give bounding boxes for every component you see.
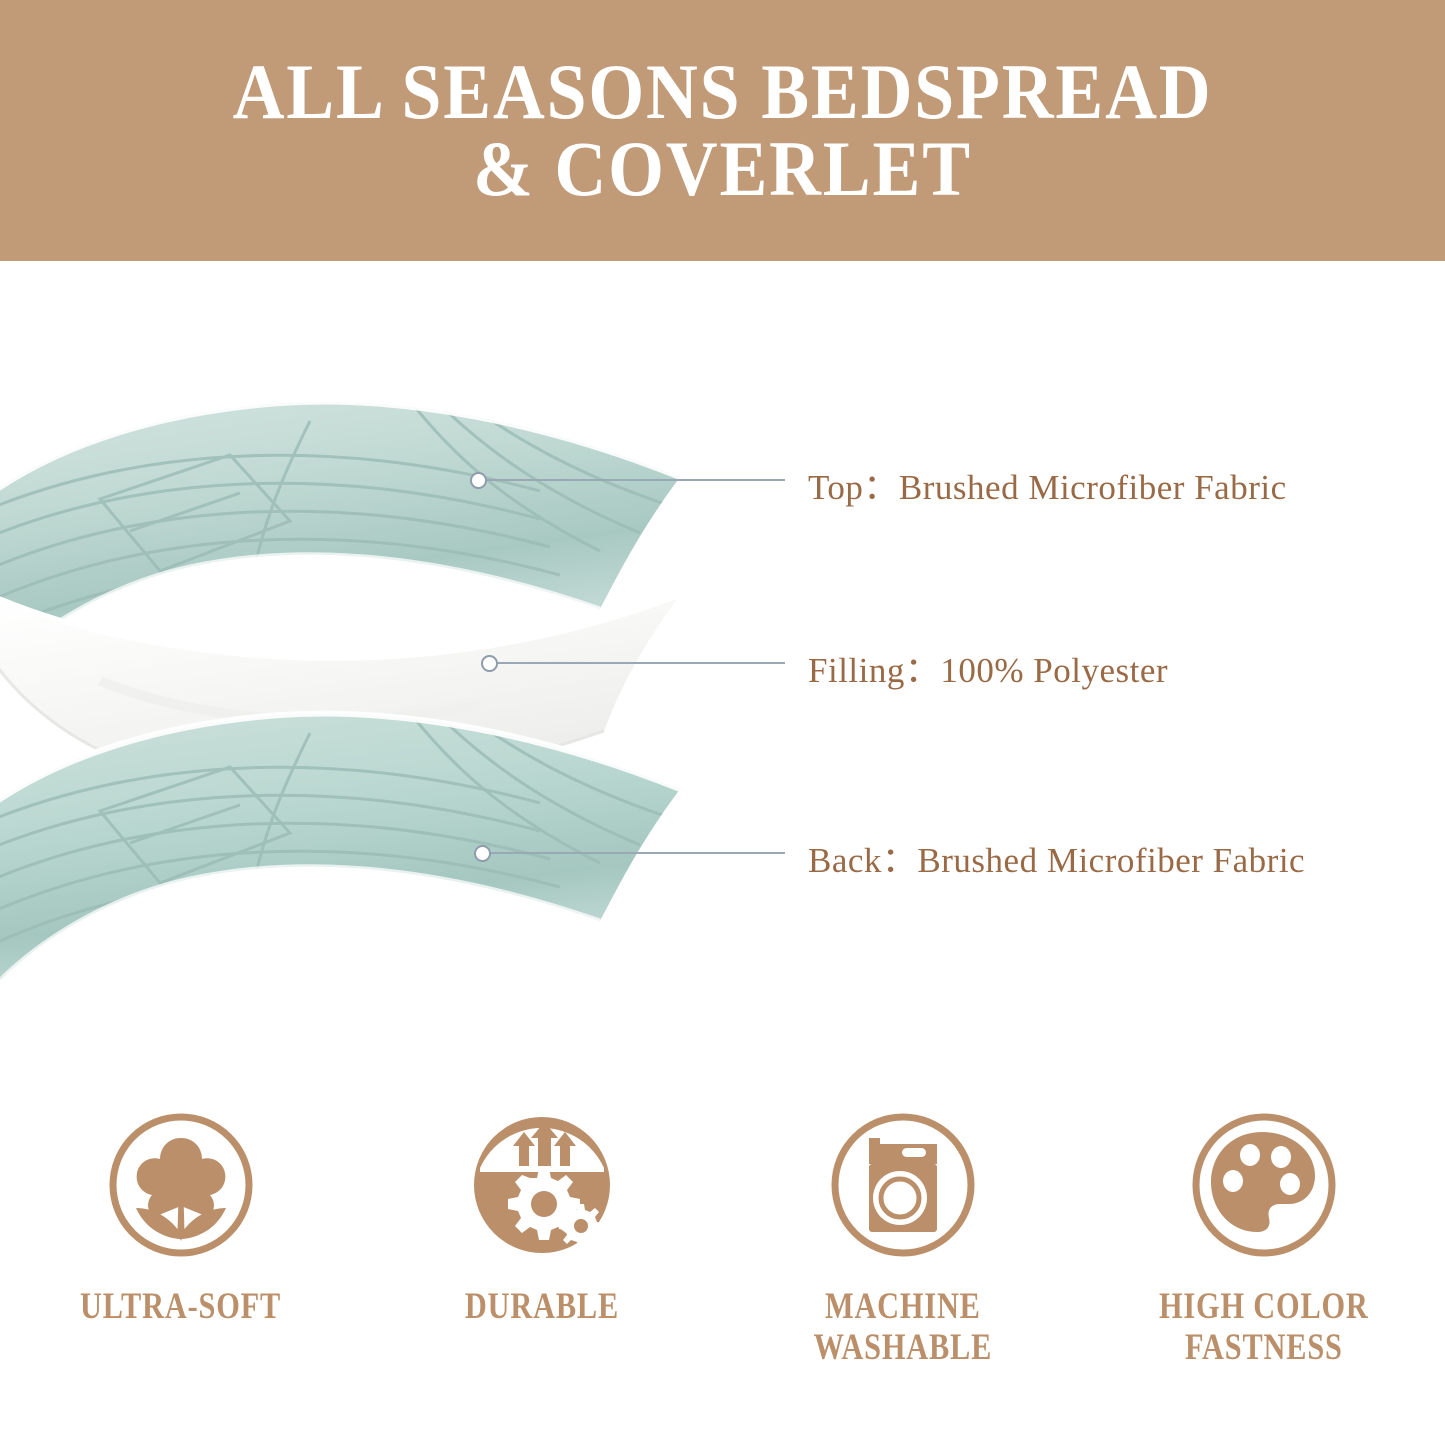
leader-dot-filling (481, 655, 498, 672)
leader-line-filling (498, 662, 785, 664)
paint-palette-icon (1189, 1110, 1339, 1260)
header-banner: ALL SEASONS BEDSPREAD & COVERLET (0, 0, 1445, 261)
leader-line-top (487, 479, 785, 481)
leader-line-back (491, 852, 785, 854)
feature-ultra-soft: ULTRA-SOFT (0, 1110, 361, 1410)
page-title: ALL SEASONS BEDSPREAD & COVERLET (196, 54, 1249, 207)
feature-machine-washable: MACHINE WASHABLE (722, 1110, 1083, 1410)
leader-dot-back (474, 845, 491, 862)
spec-label-top: Top：Brushed Microfiber Fabric (808, 459, 1287, 510)
feature-label-durable: DURABLE (464, 1286, 618, 1327)
leader-dot-top (470, 472, 487, 489)
feature-durable: DURABLE (361, 1110, 722, 1410)
product-layers-diagram: Top：Brushed Microfiber Fabric Filling：10… (0, 261, 1445, 1101)
spec-label-filling: Filling：100% Polyester (808, 642, 1168, 693)
gears-arrows-icon (467, 1110, 617, 1260)
feature-high-color-fastness: HIGH COLOR FASTNESS (1083, 1110, 1444, 1410)
spec-label-back: Back：Brushed Microfiber Fabric (808, 832, 1305, 883)
feature-label-machine-washable: MACHINE WASHABLE (813, 1286, 992, 1369)
feature-label-high-color-fastness: HIGH COLOR FASTNESS (1159, 1286, 1369, 1369)
washing-machine-icon (828, 1110, 978, 1260)
feature-label-ultra-soft: ULTRA-SOFT (80, 1286, 281, 1327)
cotton-boll-icon (106, 1110, 256, 1260)
feature-badges-row: ULTRA-SOFT (0, 1110, 1445, 1410)
fabric-layers-illustration (0, 381, 780, 1001)
